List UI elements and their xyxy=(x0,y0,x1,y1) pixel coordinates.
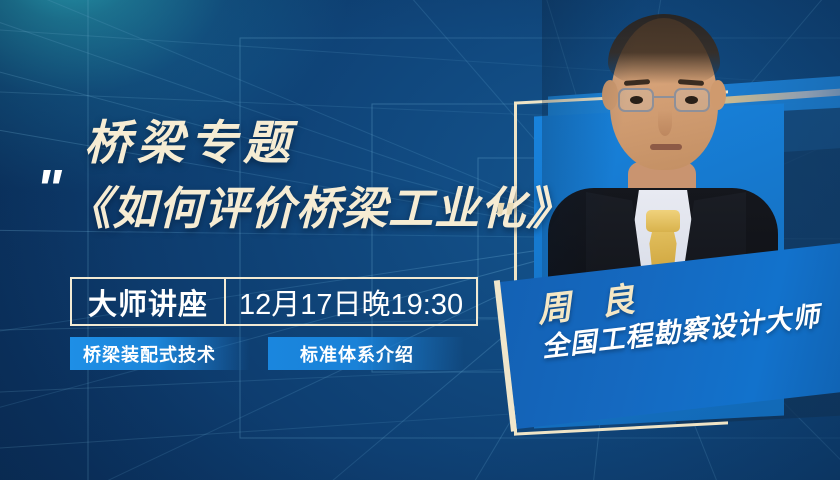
quote-open-icon: " xyxy=(36,162,58,216)
topic-tags: 桥梁装配式技术 标准体系介绍 xyxy=(70,337,464,370)
topic-tag: 标准体系介绍 xyxy=(268,337,464,370)
lecture-type-label: 大师讲座 xyxy=(72,279,226,324)
avatar-nose xyxy=(658,110,672,136)
avatar-mouth xyxy=(650,144,682,150)
avatar-eye-left xyxy=(630,96,643,104)
lecture-poster: 桥梁专题 " 《如何评价桥梁工业化》 " 大师讲座 12月17日晚19:30 桥… xyxy=(0,0,840,480)
topic-tag: 桥梁装配式技术 xyxy=(70,337,250,370)
lecture-info-bar: 大师讲座 12月17日晚19:30 xyxy=(70,277,478,326)
lecture-datetime: 12月17日晚19:30 xyxy=(226,279,476,324)
glasses-bridge xyxy=(654,96,674,98)
avatar-ear-left xyxy=(602,80,618,110)
avatar-eye-right xyxy=(685,96,698,104)
avatar-hair xyxy=(608,14,720,84)
avatar-ear-right xyxy=(710,80,726,110)
page-title: 桥梁专题 xyxy=(84,104,296,173)
avatar-tie-knot xyxy=(646,210,680,232)
quote-close-icon: " xyxy=(492,196,510,242)
